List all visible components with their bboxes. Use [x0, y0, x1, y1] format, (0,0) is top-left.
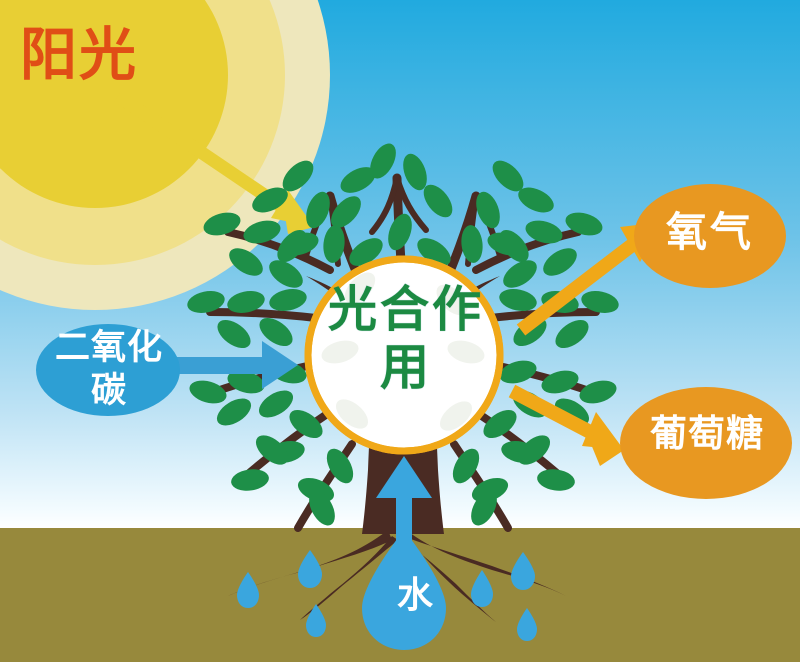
sunlight-label: 阳光 [20, 26, 138, 84]
photosynthesis-diagram: 阳光 光合作用 二氧化碳 氧气 葡萄糖 水 [0, 0, 800, 662]
water-label: 水 [383, 578, 447, 615]
photosynthesis-label: 光合作用 [316, 281, 496, 397]
glucose-label: 葡萄糖 [627, 415, 787, 453]
oxygen-label: 氧气 [640, 212, 780, 254]
co2-label: 二氧化碳 [44, 327, 174, 412]
